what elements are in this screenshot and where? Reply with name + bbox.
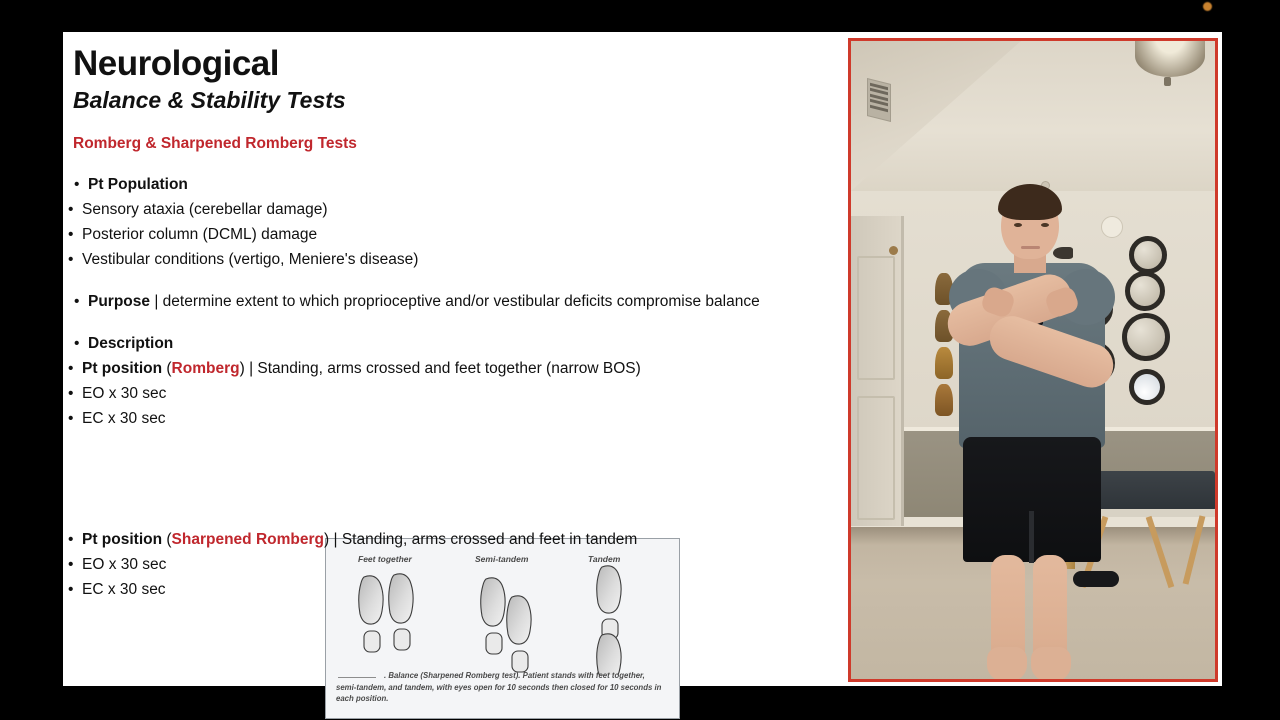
slide-subtitle: Balance & Stability Tests (73, 87, 346, 114)
wall-hook-icon (1053, 247, 1073, 259)
purpose-separator: | (150, 293, 163, 310)
slide-bullet-body: • Pt Population • Sensory ataxia (cerebe… (68, 172, 858, 602)
page-title: Neurological (73, 44, 279, 84)
recording-indicator-dot (1203, 2, 1212, 11)
pt-population-sublist: • Sensory ataxia (cerebellar damage) • P… (68, 197, 858, 272)
sharpened-timing-ec: EC x 30 sec (82, 577, 858, 602)
description-label: Description (88, 331, 858, 356)
slide-text-column: Neurological Balance & Stability Tests R… (68, 32, 848, 686)
list-item: • EC x 30 sec (68, 406, 858, 431)
person-mouth (1021, 246, 1040, 249)
person-eye-left (1014, 223, 1022, 227)
position-romberg: • Pt position (Romberg) | Standing, arms… (68, 356, 858, 381)
romberg-timing-ec: EC x 30 sec (82, 406, 858, 431)
list-item: • EO x 30 sec (68, 552, 858, 577)
position-sharpened-romberg: • Pt position (Sharpened Romberg) | Stan… (68, 527, 858, 552)
bullet-list-top: • Pt Population (68, 172, 858, 197)
pt-population-label: Pt Population (88, 172, 858, 197)
wall-mirror (1129, 369, 1165, 405)
door-panel-upper (857, 256, 895, 380)
bullet-dot-icon: • (68, 197, 82, 222)
section-heading: Romberg & Sharpened Romberg Tests (73, 135, 357, 153)
black-case (1073, 571, 1119, 587)
list-item: • EO x 30 sec (68, 381, 858, 406)
position-test-name-sharpened-romberg: Sharpened Romberg (172, 531, 324, 548)
purpose-line: Purpose | determine extent to which prop… (88, 289, 858, 314)
description-sublist-sharpened: • Pt position (Sharpened Romberg) | Stan… (68, 527, 858, 552)
position-romberg-line: Pt position (Romberg) | Standing, arms c… (82, 356, 858, 381)
bullet-dot-icon: • (68, 222, 82, 247)
list-item: • EC x 30 sec (68, 577, 858, 602)
video-player-stage: Neurological Balance & Stability Tests R… (0, 0, 1280, 720)
romberg-timings: • EO x 30 sec • EC x 30 sec (68, 381, 858, 431)
bullet-dot-icon: • (68, 527, 82, 552)
sharpened-timing-eo: EO x 30 sec (82, 552, 858, 577)
spacer (68, 314, 858, 331)
wall-mirror (1125, 271, 1165, 311)
figure-caption: . Balance (Sharpened Romberg test). Pati… (336, 670, 666, 705)
position-label: Pt position (82, 360, 162, 377)
door-panel-lower (857, 396, 895, 520)
bullet-dot-icon: • (68, 381, 82, 406)
spacer (68, 272, 858, 289)
sharpened-romberg-timings: • EO x 30 sec • EC x 30 sec (68, 552, 858, 602)
purpose-text: determine extent to which proprioceptive… (163, 293, 760, 310)
person-shorts-split (1029, 511, 1034, 563)
pt-population-item-0: Sensory ataxia (cerebellar damage) (82, 197, 858, 222)
purpose-label: Purpose (88, 293, 150, 310)
position-test-name-romberg: Romberg (172, 360, 240, 377)
bullet-description: • Description (68, 331, 858, 356)
wall-mirror (1122, 313, 1170, 361)
description-sublist-romberg: • Pt position (Romberg) | Standing, arms… (68, 356, 858, 381)
list-item: • Posterior column (DCML) damage (68, 222, 858, 247)
bullet-pt-population: • Pt Population (68, 172, 858, 197)
smoke-detector-icon (1101, 216, 1123, 238)
person-foot-left (987, 647, 1027, 679)
bullet-dot-icon: • (68, 577, 82, 602)
ceiling-vent-icon (867, 78, 891, 122)
position-detail: Standing, arms crossed and feet together… (257, 360, 640, 377)
bullet-dot-icon: • (68, 247, 82, 272)
wall-mirror (1129, 236, 1167, 274)
paren-open: ( (162, 531, 171, 548)
bullet-dot-icon: • (74, 289, 88, 314)
person-foot-right (1031, 647, 1071, 679)
position-label: Pt position (82, 531, 162, 548)
bullet-purpose: • Purpose | determine extent to which pr… (68, 289, 858, 314)
position-detail: Standing, arms crossed and feet in tande… (342, 531, 638, 548)
paren-open: ( (162, 360, 171, 377)
person-eye-right (1041, 223, 1049, 227)
romberg-timing-eo: EO x 30 sec (82, 381, 858, 406)
bullet-list-purpose: • Purpose | determine extent to which pr… (68, 289, 858, 314)
ceiling-light-knob (1164, 77, 1171, 86)
presentation-slide: Neurological Balance & Stability Tests R… (63, 32, 1222, 686)
list-item: • Sensory ataxia (cerebellar damage) (68, 197, 858, 222)
figure-gap-spacer (68, 431, 858, 527)
position-separator: | (245, 360, 258, 377)
pt-population-item-2: Vestibular conditions (vertigo, Meniere'… (82, 247, 858, 272)
bullet-dot-icon: • (74, 172, 88, 197)
position-separator: | (329, 531, 342, 548)
position-sharpened-line: Pt position (Sharpened Romberg) | Standi… (82, 527, 858, 552)
pt-population-item-1: Posterior column (DCML) damage (82, 222, 858, 247)
photo-content: PA (851, 41, 1215, 679)
bullet-list-description: • Description (68, 331, 858, 356)
list-item: • Vestibular conditions (vertigo, Menier… (68, 247, 858, 272)
bullet-dot-icon: • (68, 356, 82, 381)
bullet-dot-icon: • (68, 406, 82, 431)
door-knob-icon (889, 246, 898, 255)
bullet-dot-icon: • (68, 552, 82, 577)
bullet-dot-icon: • (74, 331, 88, 356)
demonstration-photo: PA (848, 38, 1218, 682)
doorway (851, 216, 904, 526)
